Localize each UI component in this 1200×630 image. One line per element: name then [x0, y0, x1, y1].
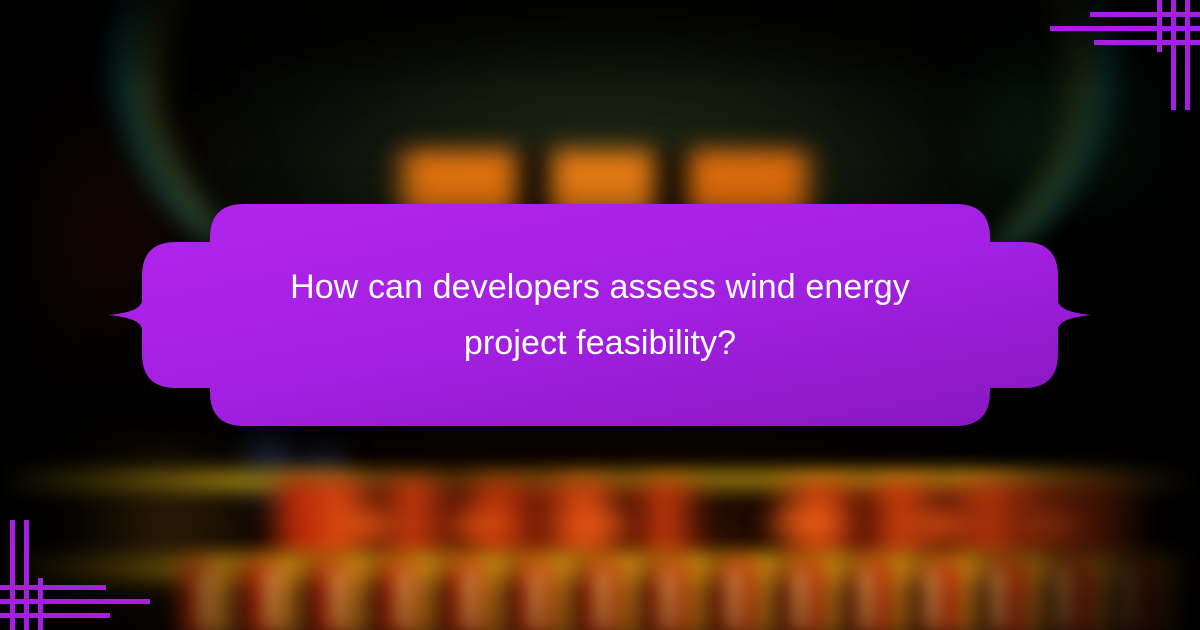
ornament-line-horizontal	[1050, 26, 1200, 31]
question-card: How can developers assess wind energy pr…	[108, 196, 1092, 434]
ornament-line-horizontal	[0, 599, 150, 604]
question-text-block: How can developers assess wind energy pr…	[238, 196, 962, 434]
question-line-2: project feasibility?	[464, 318, 736, 368]
question-line-1: How can developers assess wind energy	[290, 262, 910, 312]
ornament-line-horizontal	[0, 585, 106, 590]
corner-ornament-top-right	[1050, 0, 1200, 110]
share-card-image: How can developers assess wind energy pr…	[0, 0, 1200, 630]
ornament-line-horizontal	[0, 613, 110, 618]
corner-ornament-bottom-left	[0, 520, 150, 630]
ornament-line-horizontal	[1094, 40, 1200, 45]
ornament-line-horizontal	[1090, 12, 1200, 17]
